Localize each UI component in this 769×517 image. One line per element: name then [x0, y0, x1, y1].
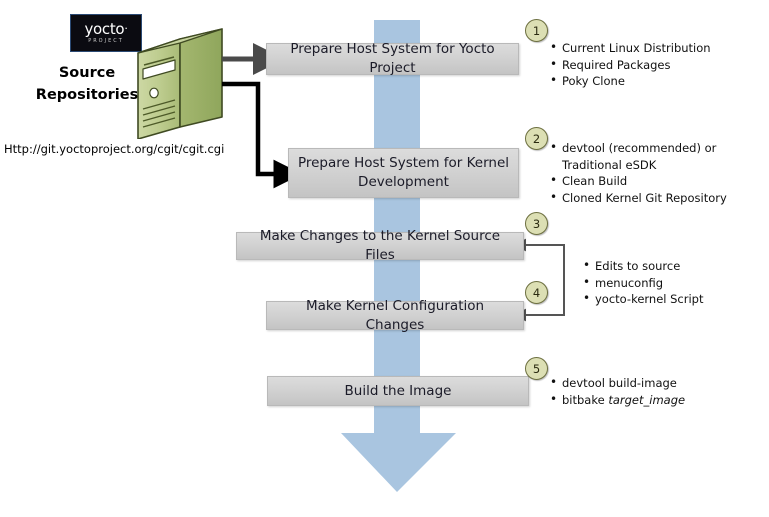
logo-word-text: yocto: [84, 20, 124, 38]
workflow-diagram: yocto· PROJECT Source Repositories Http:…: [0, 0, 769, 517]
notes-step-5: devtool build-image bitbake target_image: [550, 375, 685, 408]
note-item: bitbake target_image: [550, 392, 685, 409]
note-item: Clean Build: [550, 173, 727, 190]
note-item: devtool (recommended) or Traditional eSD…: [550, 140, 722, 173]
step-badge-3-number: 3: [533, 217, 540, 231]
notes-steps-3-4: Edits to source menuconfig yocto-kernel …: [583, 258, 704, 308]
server-tower-icon: [134, 27, 226, 139]
step-badge-1-number: 1: [533, 24, 540, 38]
step-badge-1: 1: [525, 19, 548, 42]
process-box-step-1[interactable]: Prepare Host System for Yocto Project: [266, 43, 519, 75]
source-label-line2: Repositories: [28, 84, 146, 106]
notes-step-2: devtool (recommended) or Traditional eSD…: [550, 140, 727, 206]
source-label-line1: Source: [28, 62, 146, 84]
process-box-step-4[interactable]: Make Kernel Configuration Changes: [266, 301, 524, 330]
note-item: menuconfig: [583, 275, 704, 292]
note-item: yocto-kernel Script: [583, 291, 704, 308]
source-repositories-label: Source Repositories: [28, 62, 146, 106]
step-badge-4: 4: [525, 281, 548, 304]
process-box-step-2-label: Prepare Host System for Kernel Developme…: [297, 154, 510, 192]
note-item-prefix: bitbake: [562, 393, 608, 407]
process-box-step-4-label: Make Kernel Configuration Changes: [275, 297, 515, 335]
process-box-step-3-label: Make Changes to the Kernel Source Files: [245, 227, 515, 265]
note-item-italic: target_image: [608, 393, 685, 407]
step-badge-3: 3: [525, 212, 548, 235]
note-item: Edits to source: [583, 258, 704, 275]
note-item: devtool build-image: [550, 375, 685, 392]
step-badge-2-number: 2: [533, 132, 540, 146]
logo-dot: ·: [124, 22, 127, 35]
process-box-step-5-label: Build the Image: [345, 382, 452, 401]
step-badge-5-number: 5: [533, 362, 540, 376]
logo-subtitle: PROJECT: [88, 39, 124, 44]
note-item: Poky Clone: [550, 73, 711, 90]
process-box-step-2[interactable]: Prepare Host System for Kernel Developme…: [288, 148, 519, 198]
step-badge-4-number: 4: [533, 286, 540, 300]
note-item: Cloned Kernel Git Repository: [550, 190, 727, 207]
step-badge-2: 2: [525, 127, 548, 150]
step-badge-5: 5: [525, 357, 548, 380]
process-box-step-3[interactable]: Make Changes to the Kernel Source Files: [236, 232, 524, 260]
yocto-project-logo: yocto· PROJECT: [70, 14, 142, 52]
logo-wordmark: yocto·: [84, 22, 127, 37]
process-box-step-5[interactable]: Build the Image: [267, 376, 529, 406]
note-item: Required Packages: [550, 57, 711, 74]
process-box-step-1-label: Prepare Host System for Yocto Project: [275, 40, 510, 78]
source-repository-url: Http://git.yoctoproject.org/cgit/cgit.cg…: [4, 142, 224, 156]
notes-step-1: Current Linux Distribution Required Pack…: [550, 40, 711, 90]
note-item: Current Linux Distribution: [550, 40, 711, 57]
